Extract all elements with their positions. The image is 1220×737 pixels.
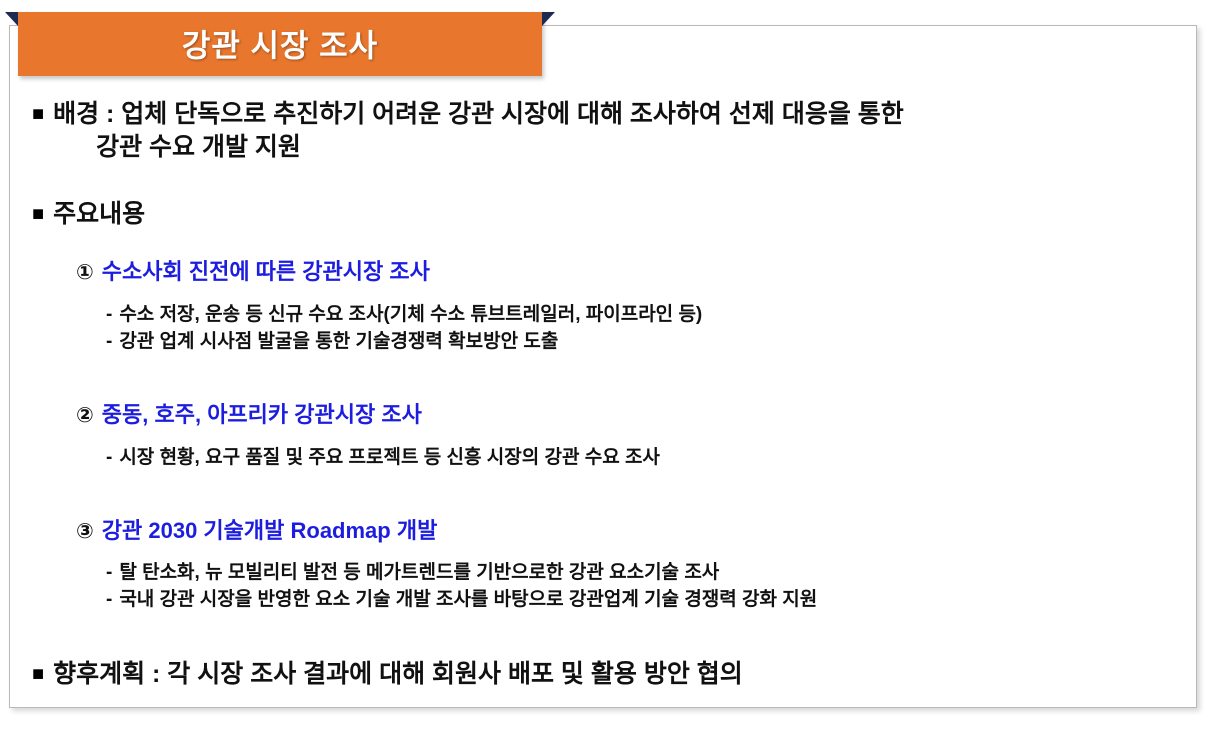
title-banner: 강관 시장 조사 — [18, 12, 542, 76]
main-item-1-detail-2: - 강관 업계 시사점 발굴을 통한 기술경쟁력 확보방안 도출 — [106, 329, 1182, 356]
ribbon-fold-left-icon — [5, 12, 18, 26]
main-item-1-label: 수소사회 진전에 따른 강관시장 조사 — [102, 257, 430, 288]
spacer — [32, 231, 1182, 257]
spacer — [32, 164, 1182, 198]
dash-bullet-icon: - — [106, 587, 112, 614]
main-item-2: ② 중동, 호주, 아프리카 강관시장 조사 — [76, 400, 1182, 431]
main-item-3-label: 강관 2030 기술개발 Roadmap 개발 — [102, 516, 438, 547]
section-future-plan: ■ 향후계획 : 각 시장 조사 결과에 대해 회원사 배포 및 활용 방안 협… — [32, 658, 1182, 691]
detail-text: 강관 업계 시사점 발굴을 통한 기술경쟁력 확보방안 도출 — [119, 329, 558, 356]
section-main-contents: ■ 주요내용 — [32, 198, 1182, 231]
main-item-3-detail-1: - 탈 탄소화, 뉴 모빌리티 발전 등 메가트렌드를 기반으로한 강관 요소기… — [106, 560, 1182, 587]
detail-text: 탈 탄소화, 뉴 모빌리티 발전 등 메가트렌드를 기반으로한 강관 요소기술 … — [119, 560, 719, 587]
detail-text: 시장 현황, 요구 품질 및 주요 프로젝트 등 신흥 시장의 강관 수요 조사 — [119, 445, 660, 472]
detail-text: 국내 강관 시장을 반영한 요소 기술 개발 조사를 바탕으로 강관업계 기술 … — [119, 587, 817, 614]
dash-bullet-icon: - — [106, 445, 112, 472]
spacer — [32, 288, 1182, 302]
spacer — [32, 546, 1182, 560]
main-item-1-detail-1: - 수소 저장, 운송 등 신규 수요 조사(기체 수소 튜브트레일러, 파이프… — [106, 302, 1182, 329]
main-item-2-detail-1: - 시장 현황, 요구 품질 및 주요 프로젝트 등 신흥 시장의 강관 수요 … — [106, 445, 1182, 472]
main-item-3-detail-2: - 국내 강관 시장을 반영한 요소 기술 개발 조사를 바탕으로 강관업계 기… — [106, 587, 1182, 614]
spacer — [32, 472, 1182, 516]
background-line-1: 배경 : 업체 단독으로 추진하기 어려운 강관 시장에 대해 조사하여 선제 … — [53, 100, 904, 128]
slide: 강관 시장 조사 ■ 배경 : 업체 단독으로 추진하기 어려운 강관 시장에 … — [0, 0, 1220, 737]
section-background: ■ 배경 : 업체 단독으로 추진하기 어려운 강관 시장에 대해 조사하여 선… — [32, 98, 1182, 164]
main-contents-heading: 주요내용 — [53, 198, 1182, 231]
spacer — [32, 356, 1182, 400]
circled-number-2-icon: ② — [76, 401, 94, 430]
spacer — [32, 431, 1182, 445]
main-item-2-label: 중동, 호주, 아프리카 강관시장 조사 — [102, 400, 422, 431]
dash-bullet-icon: - — [106, 560, 112, 587]
future-plan-text: 향후계획 : 각 시장 조사 결과에 대해 회원사 배포 및 활용 방안 협의 — [53, 658, 1182, 691]
dash-bullet-icon: - — [106, 302, 112, 329]
square-bullet-icon: ■ — [32, 98, 44, 130]
page-title: 강관 시장 조사 — [18, 21, 542, 66]
circled-number-3-icon: ③ — [76, 517, 94, 546]
circled-number-1-icon: ① — [76, 258, 94, 287]
square-bullet-icon: ■ — [32, 658, 44, 690]
main-item-1: ① 수소사회 진전에 따른 강관시장 조사 — [76, 257, 1182, 288]
spacer — [32, 614, 1182, 658]
square-bullet-icon: ■ — [32, 198, 44, 230]
dash-bullet-icon: - — [106, 329, 112, 356]
ribbon-fold-right-icon — [542, 12, 555, 26]
slide-body: ■ 배경 : 업체 단독으로 추진하기 어려운 강관 시장에 대해 조사하여 선… — [32, 98, 1182, 691]
background-line-2: 강관 수요 개발 지원 — [53, 131, 1182, 164]
main-item-3: ③ 강관 2030 기술개발 Roadmap 개발 — [76, 516, 1182, 547]
detail-text: 수소 저장, 운송 등 신규 수요 조사(기체 수소 튜브트레일러, 파이프라인… — [119, 302, 702, 329]
